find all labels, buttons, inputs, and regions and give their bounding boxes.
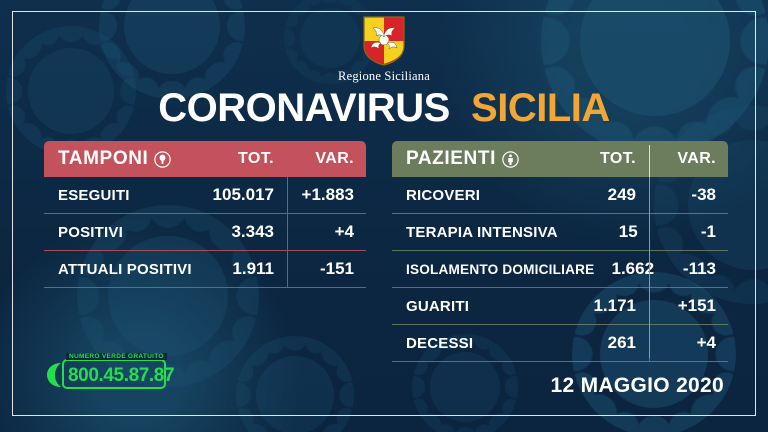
- row-label: ESEGUITI: [58, 187, 192, 204]
- pazienti-table: PAZIENTI TOT. VAR. RICOVERI 249 -3: [392, 141, 728, 362]
- tamponi-col-var: VAR.: [288, 150, 364, 168]
- table-row: GUARITI 1.171 +151: [392, 288, 728, 325]
- row-variation: +1.883: [288, 185, 364, 205]
- tamponi-title: TAMPONI: [58, 148, 192, 170]
- virus-particle-icon: [256, 356, 334, 432]
- row-variation: -1: [652, 222, 726, 242]
- table-row: POSITIVI 3.343 +4: [44, 214, 366, 251]
- virus-particle-icon: [430, 352, 500, 422]
- row-label: RICOVERI: [406, 187, 554, 204]
- pazienti-title: PAZIENTI: [406, 148, 554, 170]
- row-variation: +4: [650, 333, 726, 353]
- column-divider: [287, 251, 288, 287]
- row-variation: -151: [288, 259, 364, 279]
- table-row: ATTUALI POSITIVI 1.911 -151: [44, 251, 366, 288]
- row-total: 1.662: [594, 259, 668, 279]
- table-row: ESEGUITI 105.017 +1.883: [44, 177, 366, 214]
- row-label: ATTUALI POSITIVI: [58, 261, 192, 278]
- page-title: CORONAVIRUS SICILIA: [0, 88, 768, 128]
- column-divider: [287, 214, 288, 250]
- row-label: TERAPIA INTENSIVA: [406, 224, 558, 241]
- title-primary: CORONAVIRUS: [158, 86, 450, 130]
- row-total: 1.911: [192, 259, 288, 279]
- phone-handset-icon: [44, 361, 66, 389]
- column-divider: [649, 325, 650, 361]
- column-divider: [649, 177, 650, 213]
- title-accent: SICILIA: [471, 86, 610, 130]
- row-total: 15: [558, 222, 652, 242]
- logo-caption: Regione Siciliana: [338, 69, 430, 84]
- row-label: GUARITI: [406, 298, 554, 315]
- row-total: 3.343: [192, 222, 288, 242]
- row-variation: +4: [288, 222, 364, 242]
- swab-icon: [154, 151, 171, 168]
- row-total: 1.171: [554, 296, 650, 316]
- patient-icon: [502, 151, 519, 168]
- row-label: DECESSI: [406, 335, 554, 352]
- row-total: 105.017: [192, 185, 288, 205]
- tamponi-table-header: TAMPONI TOT. VAR.: [44, 141, 366, 177]
- table-row: DECESSI 261 +4: [392, 325, 728, 362]
- logo-block: Regione Siciliana: [0, 16, 768, 84]
- column-divider: [287, 177, 288, 213]
- row-variation: -113: [668, 259, 726, 279]
- row-variation: -38: [650, 185, 726, 205]
- row-variation: +151: [650, 296, 726, 316]
- hotline-label: NUMERO VERDE GRATUITO: [66, 353, 167, 360]
- column-divider: [649, 251, 650, 287]
- column-divider: [649, 288, 650, 324]
- row-total: 261: [554, 333, 650, 353]
- coronavirus-sicilia-infographic: Regione Siciliana CORONAVIRUS SICILIA TA…: [0, 0, 768, 432]
- trinacria-shield-icon: [363, 16, 405, 66]
- hotline-number: 800.45.87.87: [68, 365, 174, 387]
- pazienti-col-tot: TOT.: [554, 150, 650, 168]
- tamponi-table: TAMPONI TOT. VAR. ESEGUITI 105.017 +1.88…: [44, 141, 366, 362]
- row-label: ISOLAMENTO DOMICILIARE: [406, 262, 594, 277]
- stats-tables: TAMPONI TOT. VAR. ESEGUITI 105.017 +1.88…: [44, 141, 728, 362]
- row-total: 249: [554, 185, 650, 205]
- pazienti-col-var: VAR.: [650, 150, 726, 168]
- row-label: POSITIVI: [58, 224, 192, 241]
- tamponi-col-tot: TOT.: [192, 150, 288, 168]
- report-date: 12 MAGGIO 2020: [551, 374, 724, 398]
- table-row: RICOVERI 249 -38: [392, 177, 728, 214]
- table-row: TERAPIA INTENSIVA 15 -1: [392, 214, 728, 251]
- pazienti-table-header: PAZIENTI TOT. VAR.: [392, 141, 728, 177]
- column-divider: [649, 214, 650, 250]
- table-row: ISOLAMENTO DOMICILIARE 1.662 -113: [392, 251, 728, 288]
- hotline-badge: NUMERO VERDE GRATUITO 800.45.87.87: [44, 355, 166, 389]
